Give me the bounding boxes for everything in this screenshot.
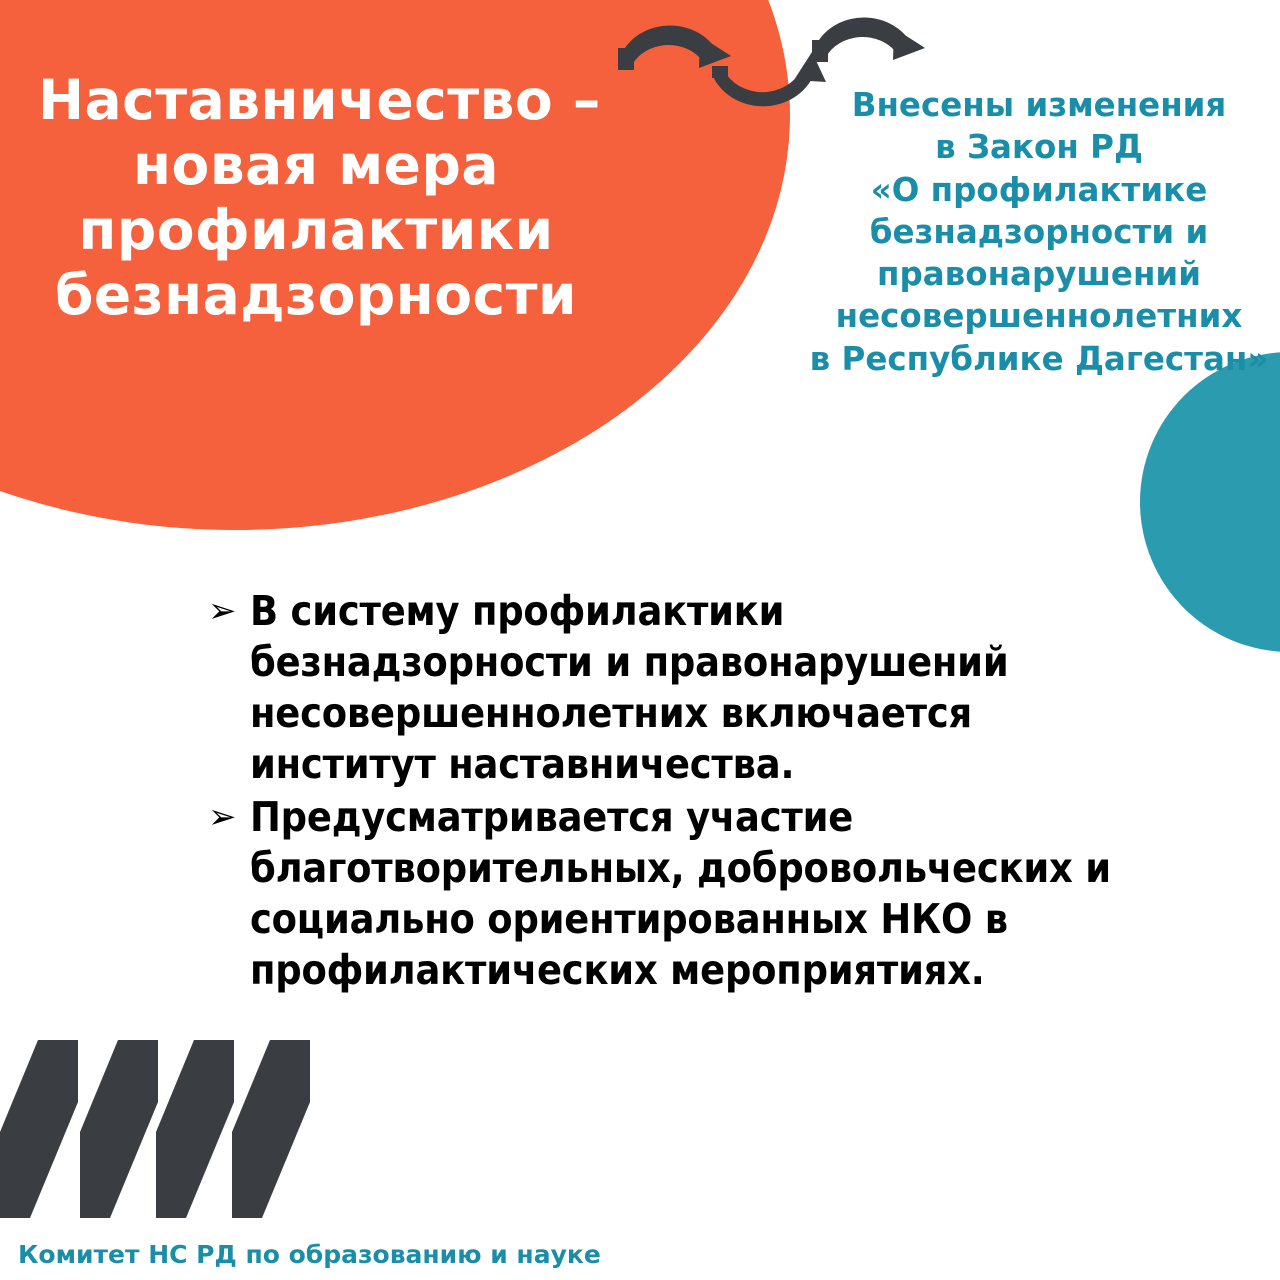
page-title-line-2: новая мера bbox=[16, 133, 616, 198]
footer-text: Комитет НС РД по образованию и науке bbox=[18, 1240, 601, 1269]
list-item-text: В систему профилактики безнадзорности и … bbox=[250, 586, 1138, 790]
arrow-bullet-icon: ➢ bbox=[208, 586, 250, 637]
law-heading-line-4: безнадзорности и bbox=[800, 211, 1278, 253]
law-heading-line-6: несовершеннолетних bbox=[800, 295, 1278, 337]
slide-canvas: Наставничество – новая мера профилактики… bbox=[0, 0, 1280, 1280]
law-heading-line-1: Внесены изменения bbox=[800, 84, 1278, 126]
law-heading-line-3: «О профилактике bbox=[800, 169, 1278, 211]
bullet-list: ➢ В систему профилактики безнадзорности … bbox=[208, 586, 1138, 998]
law-heading-line-7: в Республике Дагестан» bbox=[800, 338, 1278, 380]
arrow-bullet-icon: ➢ bbox=[208, 792, 250, 843]
page-title-line-4: безнадзорности bbox=[16, 263, 616, 328]
law-heading-line-5: правонарушений bbox=[800, 253, 1278, 295]
law-heading-line-2: в Закон РД bbox=[800, 126, 1278, 168]
teal-circle-shape bbox=[1140, 352, 1280, 652]
page-title-line-1: Наставничество – bbox=[16, 68, 616, 133]
list-item-text: Предусматривается участие благотворитель… bbox=[250, 792, 1138, 996]
page-title-line-3: профилактики bbox=[16, 198, 616, 263]
page-title: Наставничество – новая мера профилактики… bbox=[16, 68, 616, 328]
diagonal-slashes-icon bbox=[0, 1032, 330, 1222]
law-heading: Внесены изменения в Закон РД «О профилак… bbox=[800, 84, 1278, 380]
list-item: ➢ Предусматривается участие благотворите… bbox=[208, 792, 1138, 996]
list-item: ➢ В систему профилактики безнадзорности … bbox=[208, 586, 1138, 790]
